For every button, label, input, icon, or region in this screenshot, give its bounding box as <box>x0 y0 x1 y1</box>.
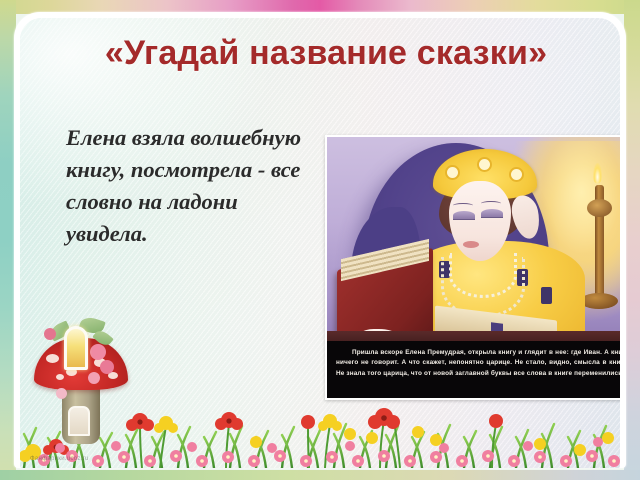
body-paragraph: Елена взяла волшебную книгу, посмотрела … <box>66 122 318 250</box>
eyebrow <box>453 203 473 208</box>
flower-cluster <box>56 388 67 399</box>
crown-jewel <box>479 159 490 170</box>
slide-panel: «Угадай название сказки» Елена взяла вол… <box>20 18 620 468</box>
flower-cluster <box>88 372 100 384</box>
flower-cluster <box>44 328 56 340</box>
illustration-artwork <box>327 137 620 349</box>
crown-jewel <box>447 167 458 178</box>
mushroom-house <box>28 314 132 446</box>
page-title: «Угадай название сказки» <box>68 32 584 76</box>
illustration-caption: Пришла вскоре Елена Премудрая, открыла к… <box>327 341 620 398</box>
dress-trim <box>541 287 552 304</box>
pearl-necklace <box>449 253 517 298</box>
candle-flame-icon <box>593 163 602 183</box>
mushroom-spot <box>56 374 64 380</box>
flower-cluster <box>90 344 106 360</box>
slide-canvas: «Угадай название сказки» Елена взяла вол… <box>0 0 640 480</box>
crown-jewel <box>511 169 522 180</box>
eye <box>453 211 475 220</box>
eyebrow <box>481 201 501 206</box>
lips <box>463 241 479 248</box>
mushroom-door <box>68 406 90 436</box>
flower-cluster <box>100 360 114 374</box>
candlestick-base <box>580 293 618 309</box>
frame-right-border <box>624 0 640 480</box>
candlestick-knob <box>587 199 612 217</box>
mushroom-spot <box>46 354 59 363</box>
eye <box>481 209 503 218</box>
frame-bottom-border <box>0 470 640 480</box>
illustration-image: Пришла вскоре Елена Премудрая, открыла к… <box>325 135 620 400</box>
watermark: Фанфарики.ucoz.ru <box>30 456 89 462</box>
mushroom-window <box>64 326 88 370</box>
